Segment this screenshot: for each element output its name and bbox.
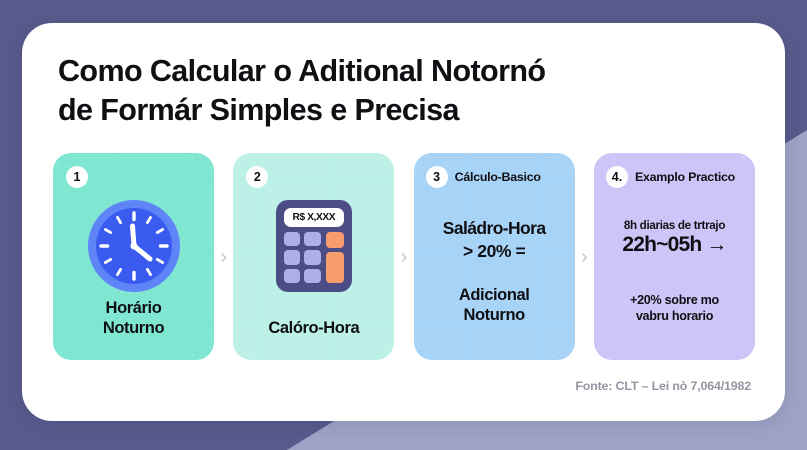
step-4-header: 4. Examplo Practico xyxy=(606,166,747,188)
step-card-2[interactable]: 2 R$ X,XXX xyxy=(233,153,394,360)
step-card-4[interactable]: 4. Examplo Practico 8h diarias de trtraj… xyxy=(594,153,755,360)
chevron-right-icon-2: › xyxy=(394,153,413,360)
step-3-body: Saládro-Hora > 20% = Adicional Noturno xyxy=(421,197,568,346)
step-1-title-line-2: Noturno xyxy=(61,318,206,338)
calculator-screen-value: R$ X,XXX xyxy=(292,212,335,223)
clock-icon xyxy=(88,200,180,292)
calculator-key xyxy=(304,269,320,283)
step-2-icon-area: R$ X,XXX xyxy=(233,195,394,297)
infographic-panel: Como Calcular o Aditional Notornó de For… xyxy=(22,23,785,421)
page-title-line-1: Como Calcular o Aditional Notornó xyxy=(58,52,698,91)
calculator-key xyxy=(304,250,320,264)
step-3-formula-top: Saládro-Hora xyxy=(443,218,546,240)
calculator-screen: R$ X,XXX xyxy=(284,208,344,227)
calculator-key-equals xyxy=(326,252,344,283)
calculator-key xyxy=(304,232,320,246)
step-2-title-line-1: Calóro-Hora xyxy=(241,318,386,338)
step-card-3[interactable]: 3 Cálculo-Basico Saládro-Hora > 20% = Ad… xyxy=(414,153,575,360)
chevron-right-icon-1: › xyxy=(214,153,233,360)
step-2-title: Calóro-Hora xyxy=(241,318,386,338)
page-title: Como Calcular o Aditional Notornó de For… xyxy=(58,52,698,129)
step-4-example-small: 8h diarias de trtrajo xyxy=(624,219,725,233)
step-badge-3: 3 xyxy=(426,166,448,188)
step-3-formula-operator: > 20% = xyxy=(463,240,525,263)
calculator-key xyxy=(284,269,300,283)
calculator-keypad xyxy=(284,232,344,283)
step-badge-1: 1 xyxy=(66,166,88,188)
step-4-note-line-2: vabru horario xyxy=(636,308,713,324)
chevron-right-icon-3: › xyxy=(575,153,594,360)
step-1-title-line-1: Horário xyxy=(61,298,206,318)
step-4-example-range: 22h~05h → xyxy=(622,233,726,258)
step-4-header-label: Examplo Practico xyxy=(635,170,735,184)
calculator-icon: R$ X,XXX xyxy=(276,200,352,292)
step-1-icon-area xyxy=(53,195,214,297)
step-3-result-line-1: Adicional xyxy=(459,285,530,305)
step-card-1[interactable]: 1 xyxy=(53,153,214,360)
page-title-line-2: de Formár Simples e Precisa xyxy=(58,91,698,130)
calculator-accent-keys xyxy=(326,232,344,283)
calculator-number-keys xyxy=(284,232,321,283)
step-1-title: Horário Noturno xyxy=(61,298,206,338)
source-footnote: Fonte: CLT – Lei nò 7,064/1982 xyxy=(575,379,751,393)
steps-row: 1 xyxy=(53,153,755,360)
step-badge-2: 2 xyxy=(246,166,268,188)
calculator-key-accent xyxy=(326,232,344,248)
calculator-key xyxy=(284,232,300,246)
step-4-note-line-1: +20% sobre mo xyxy=(630,292,719,308)
step-3-header: 3 Cálculo-Basico xyxy=(426,166,567,188)
step-badge-4: 4. xyxy=(606,166,628,188)
step-3-result-line-2: Noturno xyxy=(463,305,524,325)
step-3-header-label: Cálculo-Basico xyxy=(455,170,541,184)
step-4-body: 8h diarias de trtrajo 22h~05h → +20% sob… xyxy=(601,197,748,346)
calculator-key xyxy=(284,250,300,264)
